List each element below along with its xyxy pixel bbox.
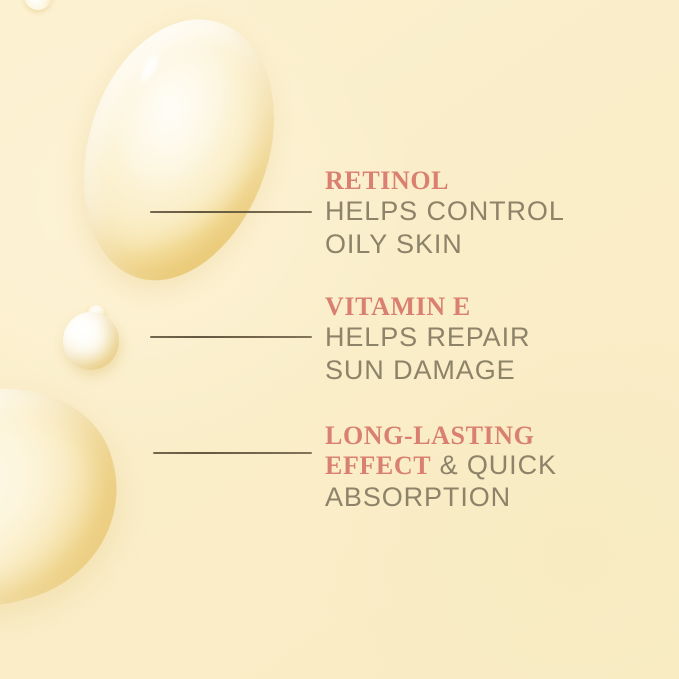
benefit-body-line: SUN DAMAGE (325, 354, 655, 387)
benefit-mixed-plain: & QUICK (431, 450, 557, 480)
leader-line-3 (153, 452, 312, 454)
benefits-content: RETINOL HELPS CONTROL OILY SKIN VITAMIN … (0, 0, 679, 679)
benefit-mixed-accent: EFFECT (325, 451, 431, 480)
benefit-body-line: ABSORPTION (325, 481, 655, 514)
benefit-heading: VITAMIN E (325, 292, 655, 321)
benefit-body-line: HELPS CONTROL (325, 195, 655, 228)
infographic-canvas: RETINOL HELPS CONTROL OILY SKIN VITAMIN … (0, 0, 679, 679)
benefit-text-retinol: RETINOL HELPS CONTROL OILY SKIN (325, 166, 655, 261)
benefit-text-vitamin-e: VITAMIN E HELPS REPAIR SUN DAMAGE (325, 292, 655, 387)
benefit-mixed-line: EFFECT & QUICK (325, 450, 655, 481)
leader-line-2 (150, 336, 312, 338)
benefit-heading: LONG-LASTING (325, 421, 655, 450)
benefit-heading: RETINOL (325, 166, 655, 195)
benefit-text-long-lasting: LONG-LASTING EFFECT & QUICK ABSORPTION (325, 421, 655, 514)
benefit-body-line: OILY SKIN (325, 228, 655, 261)
leader-line-1 (150, 211, 312, 213)
benefit-body-line: HELPS REPAIR (325, 321, 655, 354)
